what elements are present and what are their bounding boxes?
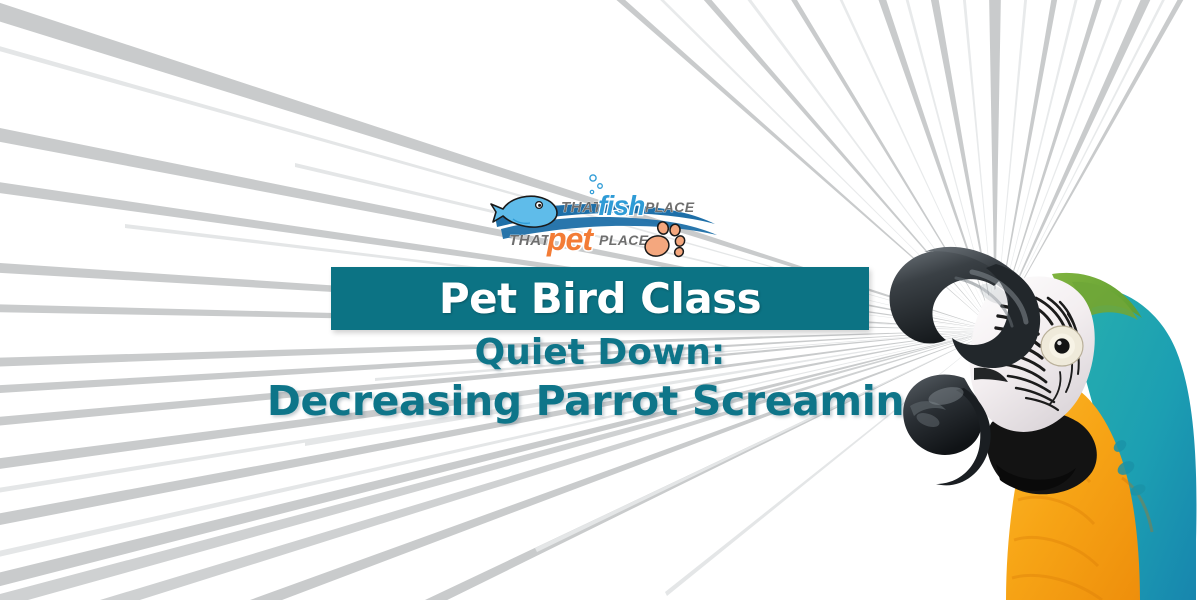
logo-that-2: THAT [509,232,552,249]
brand-logo-artwork: THAT fish PLACE THAT pet PLACE [487,172,727,264]
logo-place-1: PLACE [645,199,695,215]
macaw-eye [1041,326,1083,366]
logo-word-fish: fish [598,190,645,221]
macaw-image [876,210,1200,600]
macaw-illustration [876,210,1200,600]
pet-bird-class-banner: THAT fish PLACE THAT pet PLACE Pet Bird … [0,0,1200,600]
logo-word-pet: pet [546,221,594,257]
page-title: Pet Bird Class [439,278,761,320]
title-banner: Pet Bird Class [331,267,869,330]
brand-logo[interactable]: THAT fish PLACE THAT pet PLACE [487,172,727,264]
logo-place-2: PLACE [599,232,649,248]
